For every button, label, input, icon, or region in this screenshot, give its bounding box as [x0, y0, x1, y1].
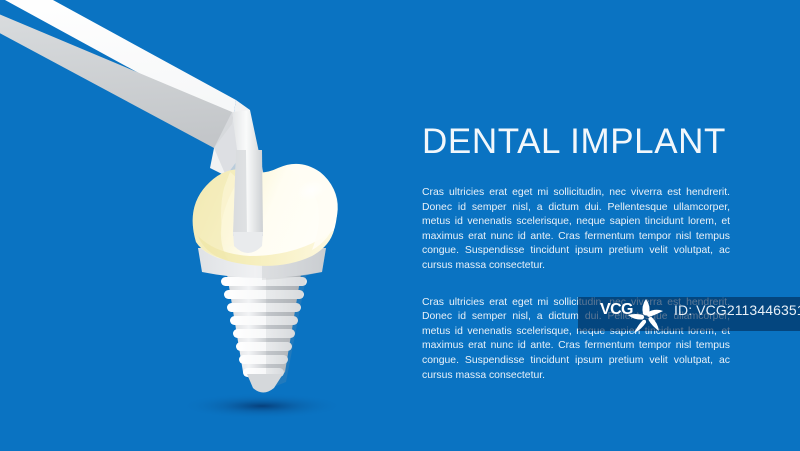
ground-shadow [180, 393, 344, 419]
watermark: VCG ID: VCG211344635166 [578, 292, 800, 338]
page-title: DENTAL IMPLANT [422, 122, 730, 162]
dental-tool-shaft-overlay [233, 150, 263, 253]
body-paragraph-1: Cras ultricies erat eget mi sollicitudin… [422, 186, 730, 274]
text-column: DENTAL IMPLANT Cras ultricies erat eget … [422, 122, 730, 383]
watermark-id-text: ID: VCG211344635166 [674, 302, 800, 318]
image-canvas: DENTAL IMPLANT Cras ultricies erat eget … [0, 0, 800, 451]
tooth-crown [193, 164, 338, 266]
vcg-flower-icon [625, 295, 667, 337]
